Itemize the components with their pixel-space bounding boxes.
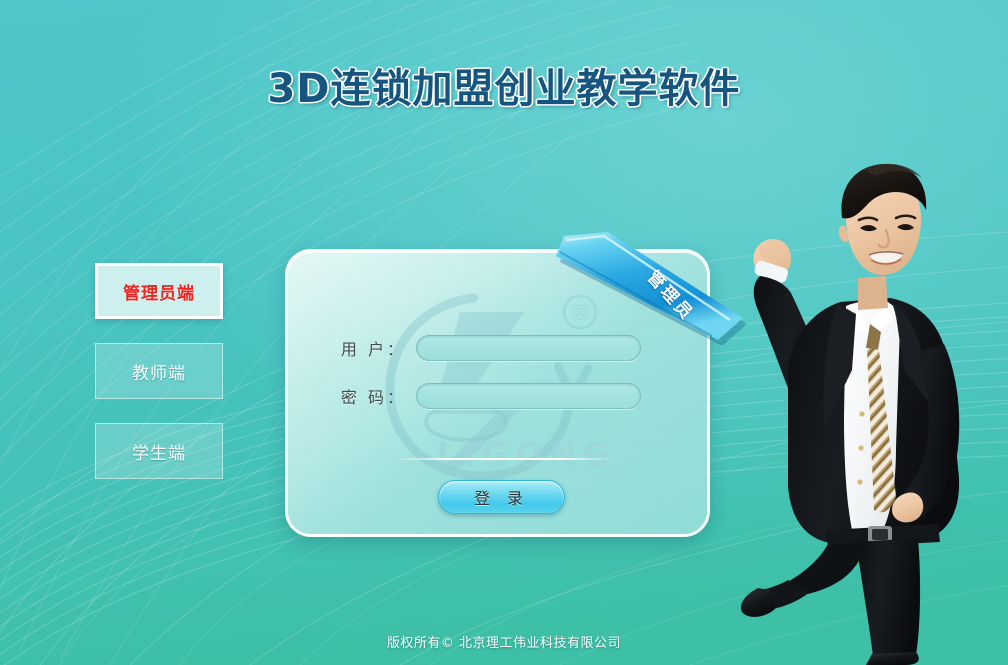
footer-copyright: 版权所有© 北京理工伟业科技有限公司 (0, 632, 1008, 651)
ribbon-text-wrap: 管理员 (552, 232, 747, 345)
page-title: 3D连锁加盟创业教学软件 (0, 56, 1008, 114)
role-button-admin[interactable]: 管理员端 (95, 263, 223, 319)
role-button-student[interactable]: 学生端 (95, 423, 223, 479)
businessman-photo (660, 118, 1008, 665)
role-selector: 管理员端 教师端 学生端 (95, 263, 223, 503)
role-button-teacher[interactable]: 教师端 (95, 343, 223, 399)
password-field-row: 密 码： (306, 383, 641, 409)
role-label-admin: 管理员端 (123, 279, 195, 304)
login-button[interactable]: 登 录 (438, 480, 565, 514)
role-ribbon-banner: 管理员 (552, 232, 747, 345)
password-label: 密 码： (306, 384, 416, 408)
role-label-student: 学生端 (132, 439, 186, 464)
password-input[interactable] (416, 383, 641, 409)
role-label-teacher: 教师端 (132, 359, 186, 384)
login-button-label: 登 录 (474, 485, 529, 509)
form-divider (392, 458, 616, 460)
ribbon-label: 管理员 (642, 264, 701, 325)
username-label: 用 户： (306, 336, 416, 360)
